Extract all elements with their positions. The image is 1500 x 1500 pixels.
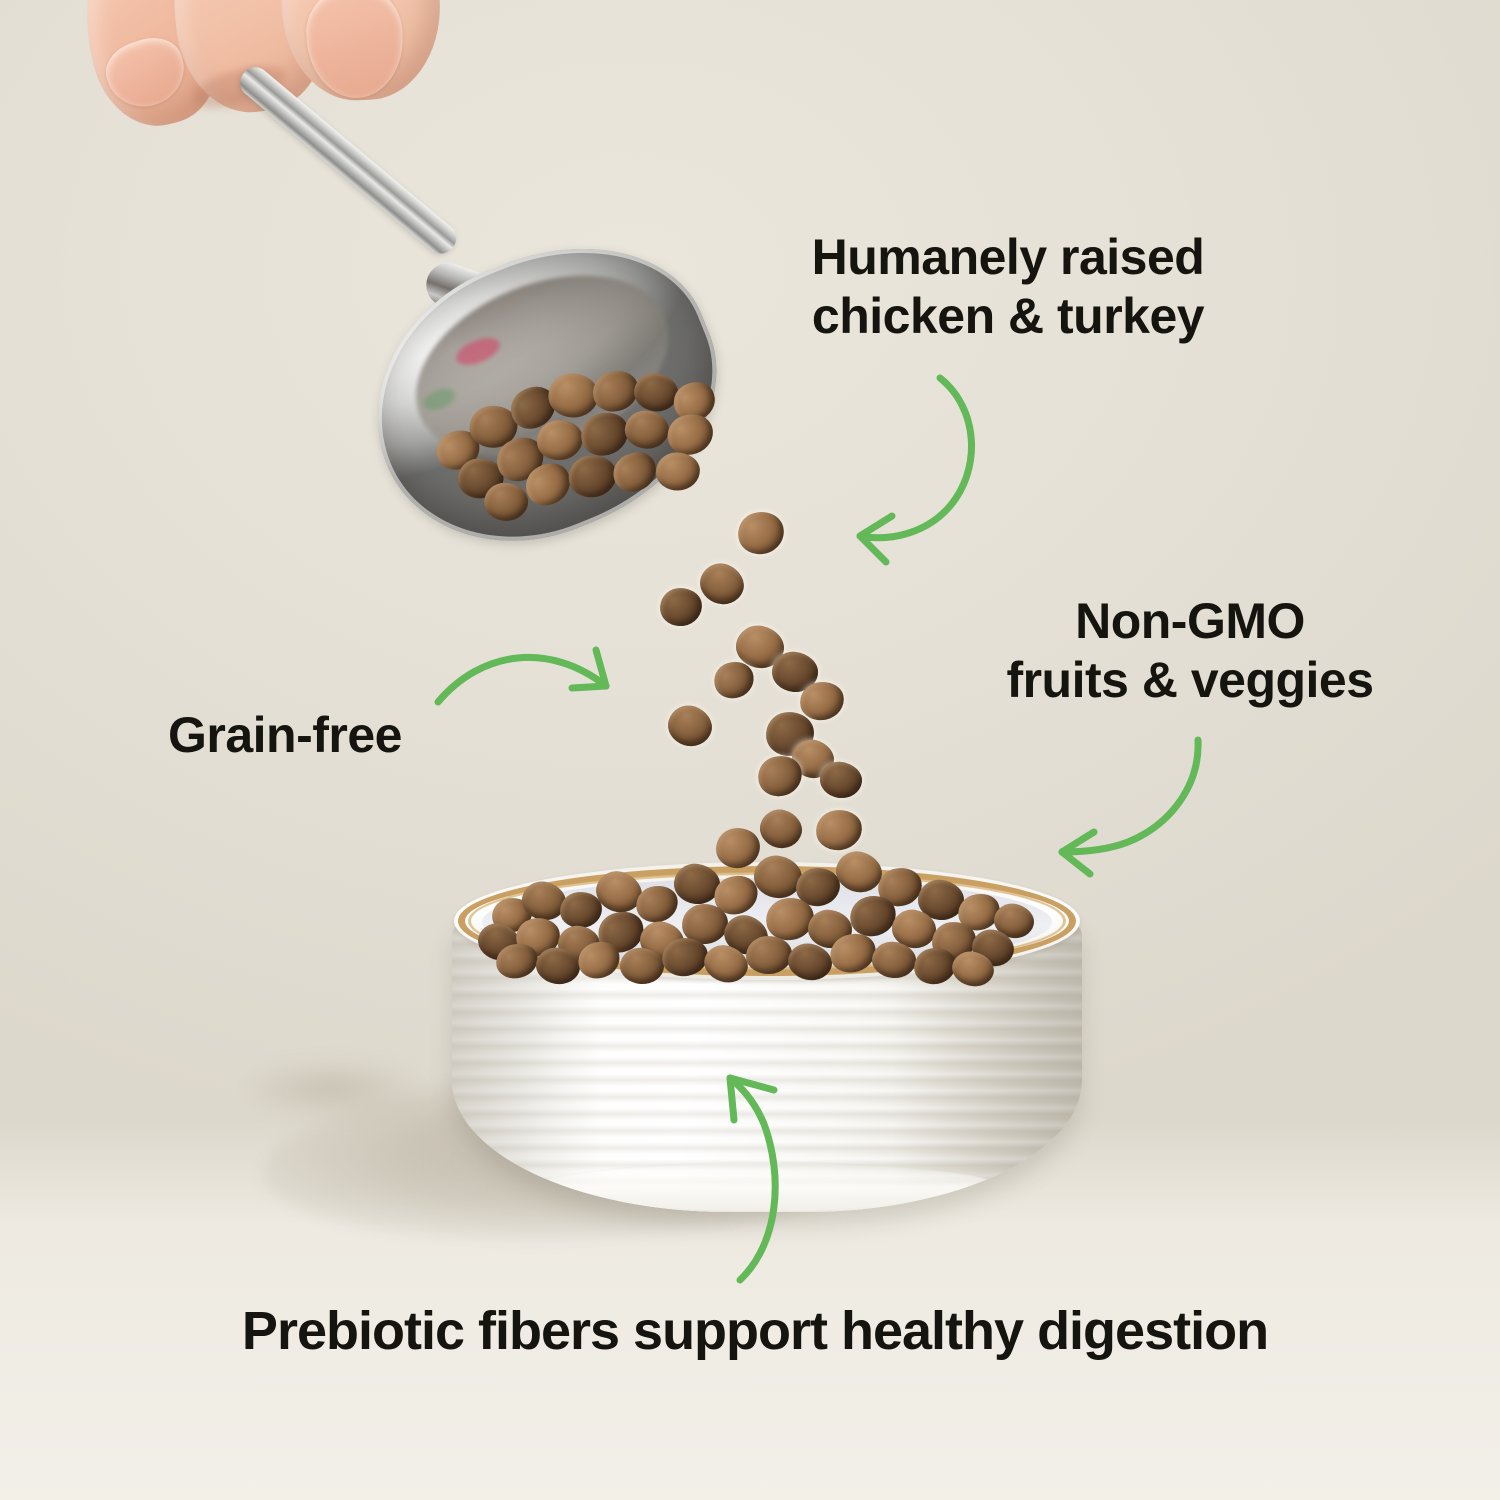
kibble-piece: [483, 482, 528, 522]
kibble-piece: [606, 444, 663, 499]
kibble-piece: [548, 373, 598, 417]
arrow-to-spoon-icon: [800, 350, 1020, 570]
label-grain-free: Grain-free: [168, 706, 488, 765]
label-humanely-raised: Humanely raised chicken & turkey: [758, 228, 1258, 346]
kibble-piece: [565, 451, 620, 501]
kibble-piece: [632, 370, 681, 414]
kibble-piece: [655, 452, 700, 492]
kibble-piece: [745, 934, 794, 975]
label-non-gmo: Non-GMO fruits & veggies: [960, 592, 1420, 710]
label-prebiotic-fibers: Prebiotic fibers support healthy digesti…: [140, 1300, 1370, 1364]
arrow-to-bowl-kibble-icon: [1040, 728, 1250, 878]
bowl-kibble-pile: [470, 842, 1070, 974]
kibble-piece: [624, 409, 671, 450]
arrow-to-bowl-icon: [678, 1058, 828, 1290]
infographic-canvas: Humanely raised chicken & turkey Non-GMO…: [0, 0, 1500, 1500]
